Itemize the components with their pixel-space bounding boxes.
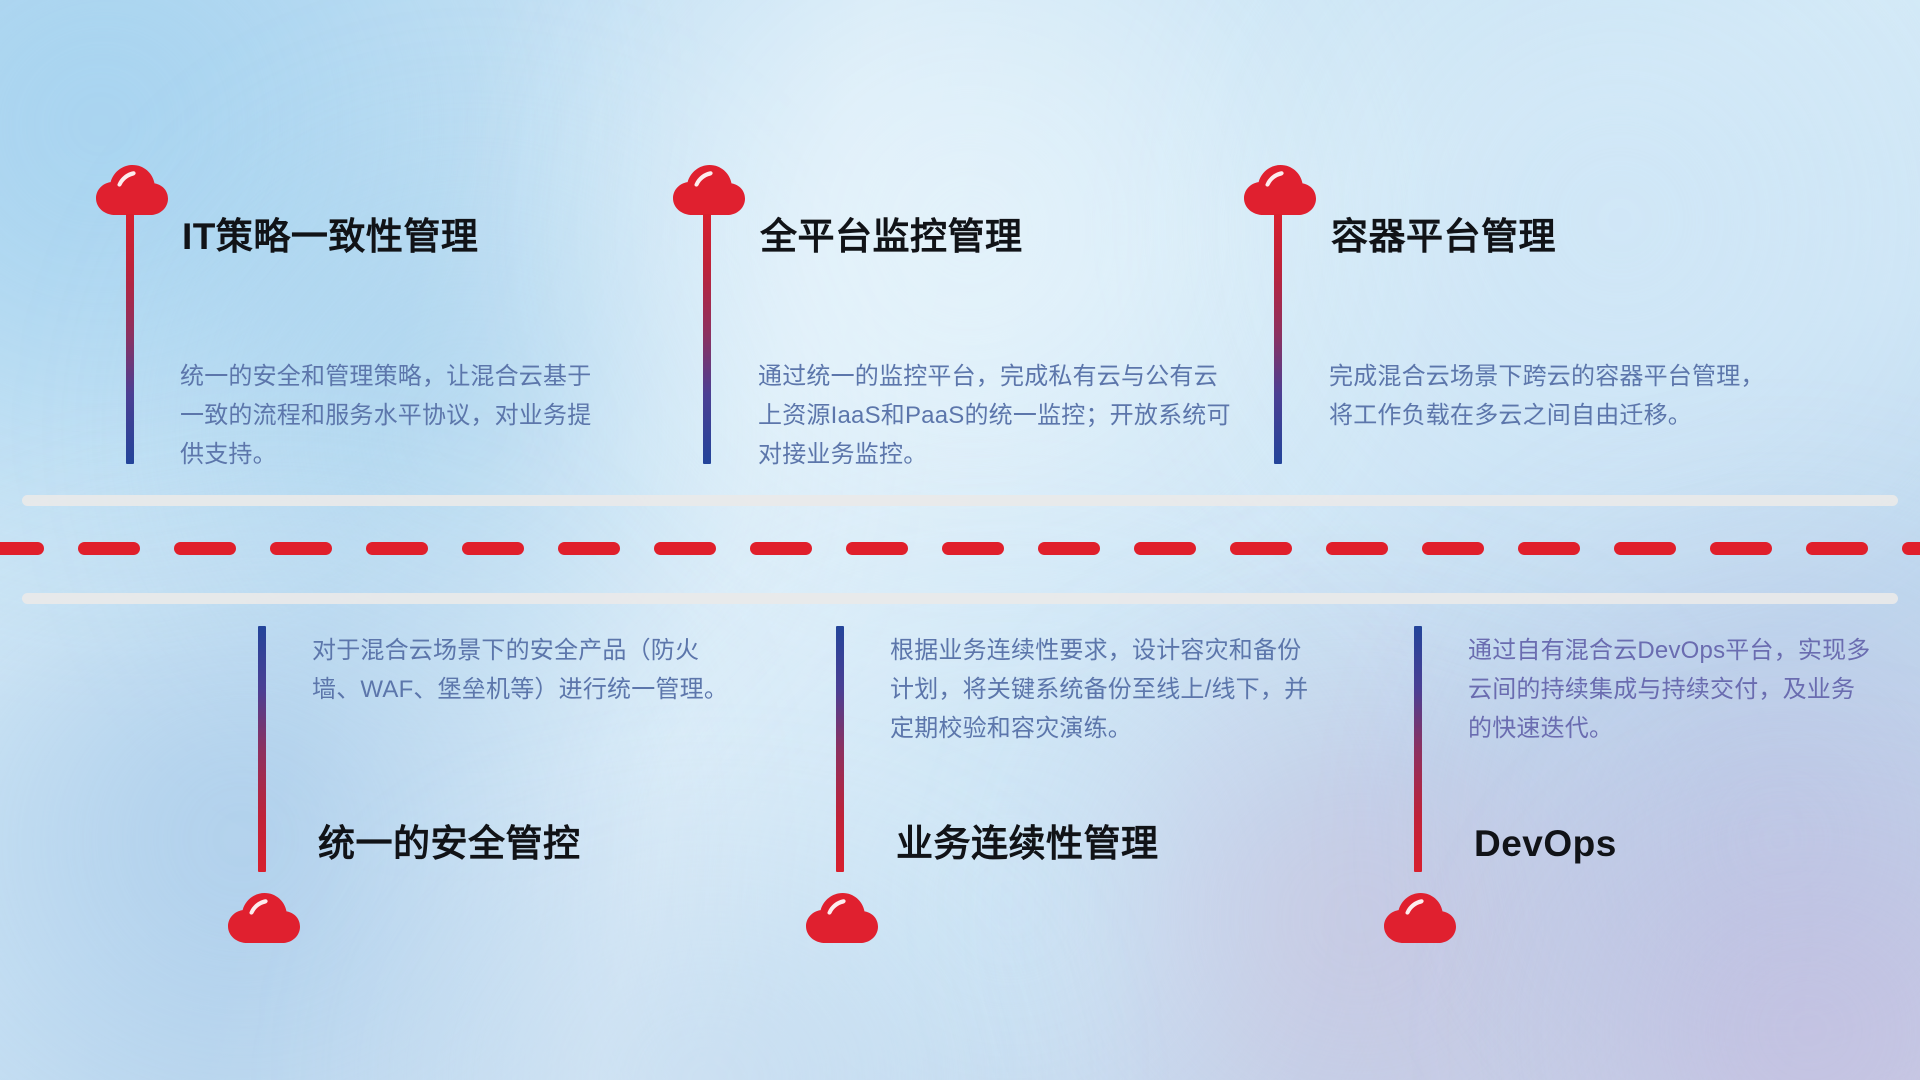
divider-dash-segment: [78, 542, 140, 555]
divider-dash-segment: [462, 542, 524, 555]
divider-dash-segment: [1806, 542, 1868, 555]
divider-dash-segment: [0, 542, 44, 555]
divider: [0, 495, 1920, 605]
pin-stem: [258, 626, 266, 872]
divider-dash-segment: [1422, 542, 1484, 555]
cloud-icon: [227, 888, 301, 944]
card-title: 统一的安全管控: [318, 825, 581, 862]
divider-dash-segment: [174, 542, 236, 555]
card-body: 完成混合云场景下跨云的容器平台管理，将工作负载在多云之间自由迁移。: [1329, 358, 1779, 436]
divider-dash-segment: [846, 542, 908, 555]
pin-stem: [836, 626, 844, 872]
card-title: 全平台监控管理: [760, 218, 1023, 255]
divider-dashed-line: [0, 542, 1920, 555]
divider-dash-segment: [1710, 542, 1772, 555]
divider-dash-segment: [1038, 542, 1100, 555]
divider-dash-segment: [654, 542, 716, 555]
cloud-icon: [1383, 888, 1457, 944]
card-body: 统一的安全和管理策略，让混合云基于一致的流程和服务水平协议，对业务提供支持。: [180, 358, 604, 475]
divider-rule-top: [22, 495, 1898, 506]
card-body: 根据业务连续性要求，设计容灾和备份计划，将关键系统备份至线上/线下，并定期校验和…: [890, 632, 1314, 749]
cloud-icon: [1243, 160, 1317, 216]
card-body: 对于混合云场景下的安全产品（防火墙、WAF、堡垒机等）进行统一管理。: [312, 632, 736, 710]
card-title: 业务连续性管理: [896, 825, 1159, 862]
divider-dash-segment: [558, 542, 620, 555]
pin-stem: [1414, 626, 1422, 872]
divider-dash-segment: [1326, 542, 1388, 555]
divider-dash-segment: [1614, 542, 1676, 555]
card-body: 通过统一的监控平台，完成私有云与公有云上资源IaaS和PaaS的统一监控；开放系…: [758, 358, 1234, 475]
divider-dash-segment: [1518, 542, 1580, 555]
infographic-canvas: IT策略一致性管理 统一的安全和管理策略，让混合云基于一致的流程和服务水平协议，…: [0, 0, 1920, 1080]
card-title: IT策略一致性管理: [182, 218, 478, 255]
divider-dash-segment: [1134, 542, 1196, 555]
pin-stem: [703, 214, 711, 464]
divider-rule-bottom: [22, 593, 1898, 604]
cloud-icon: [672, 160, 746, 216]
divider-dash-segment: [942, 542, 1004, 555]
divider-dash-segment: [270, 542, 332, 555]
divider-dash-segment: [1230, 542, 1292, 555]
cloud-icon: [95, 160, 169, 216]
pin-stem: [1274, 214, 1282, 464]
divider-dash-segment: [750, 542, 812, 555]
card-body: 通过自有混合云DevOps平台，实现多云间的持续集成与持续交付，及业务的快速迭代…: [1468, 632, 1876, 749]
divider-dash-segment: [366, 542, 428, 555]
card-title: DevOps: [1474, 825, 1617, 862]
cloud-icon: [805, 888, 879, 944]
card-title: 容器平台管理: [1331, 218, 1556, 255]
pin-stem: [126, 214, 134, 464]
divider-dash-segment: [1902, 542, 1920, 555]
